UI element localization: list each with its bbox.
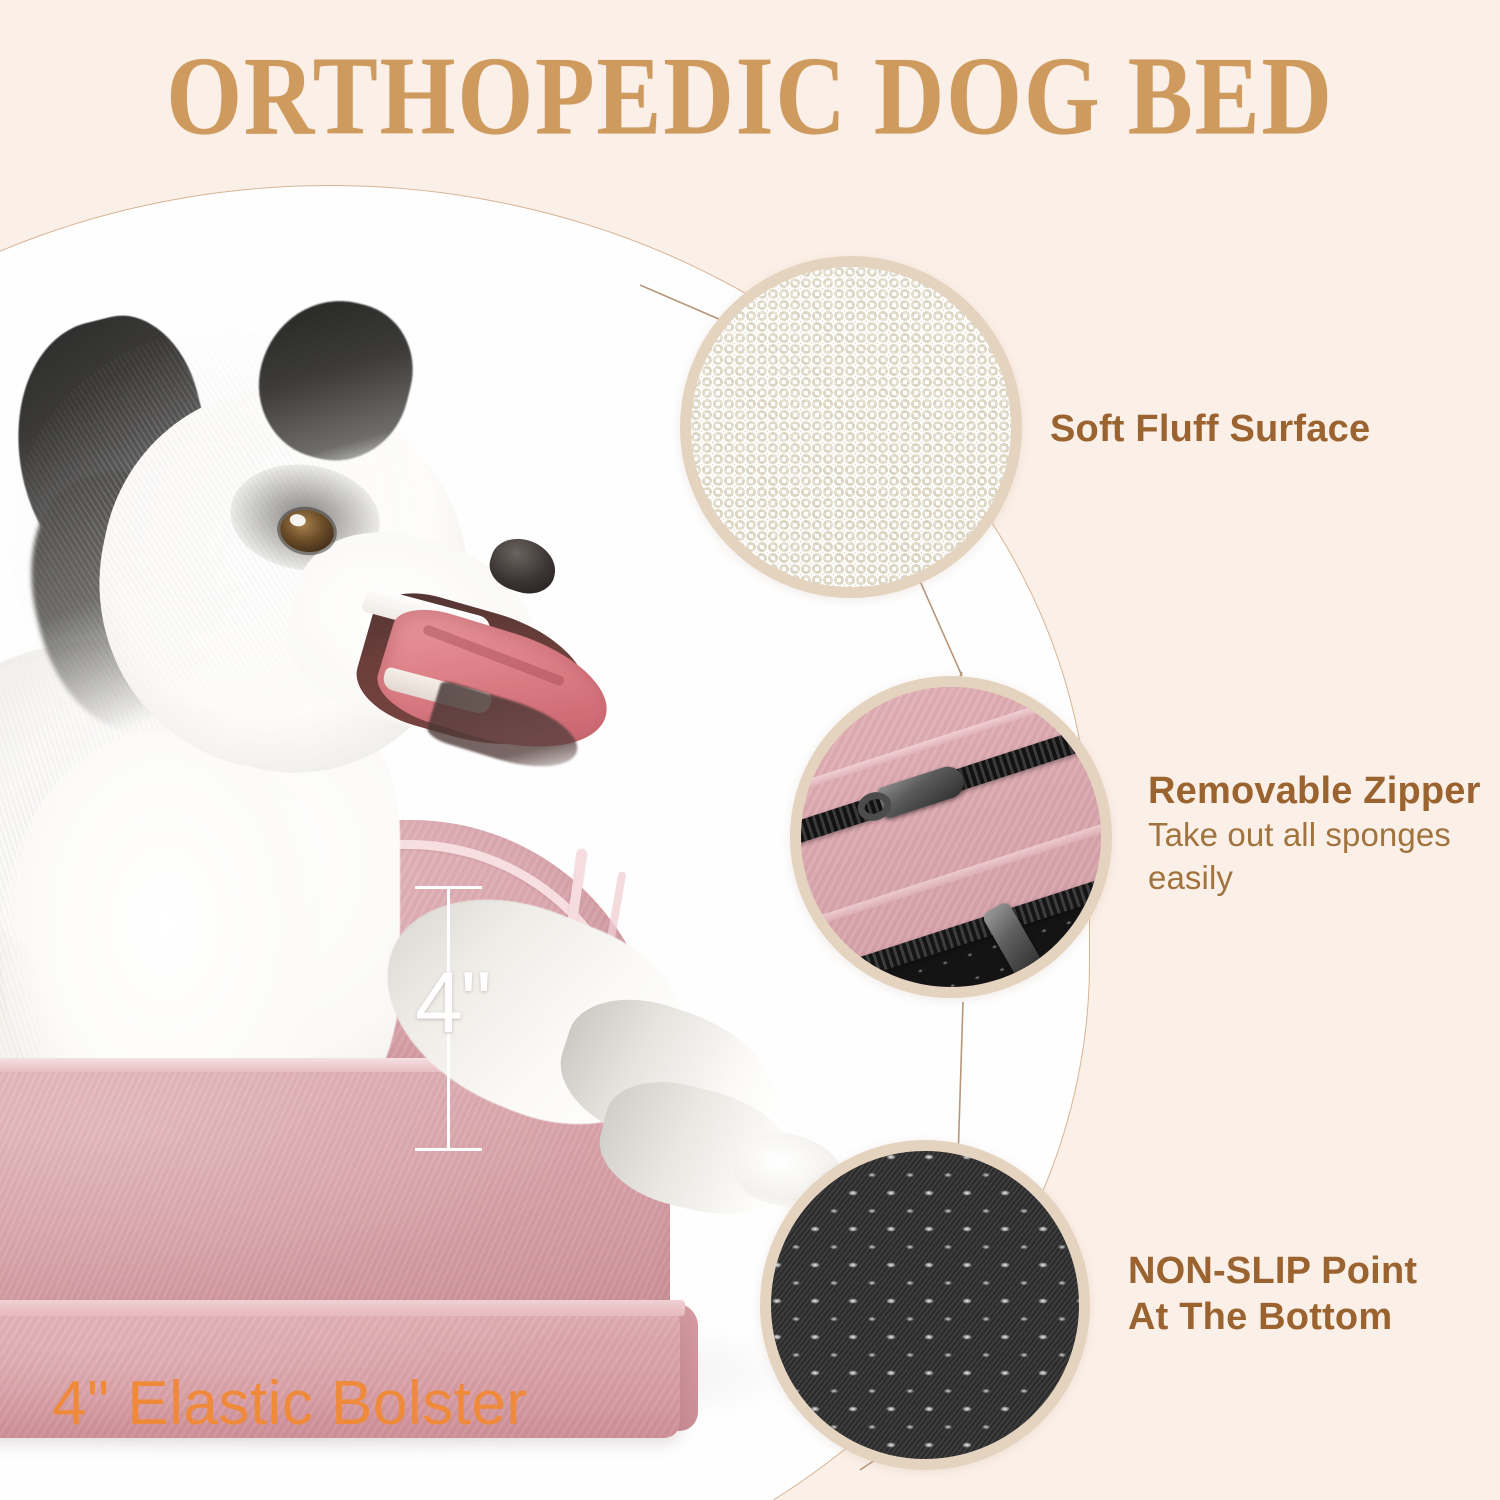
feature-heading: Soft Fluff Surface <box>1050 406 1370 452</box>
dimension-cap-bottom <box>415 1148 482 1151</box>
non-slip-dots-row-b <box>771 1151 1079 1459</box>
feature-label-soft-fluff-surface: Soft Fluff Surface <box>1050 406 1370 452</box>
feature-label-removable-zipper: Removable Zipper Take out all sponges ea… <box>1148 768 1481 899</box>
feature-heading-line1: NON-SLIP Point <box>1128 1248 1417 1294</box>
bolster-caption: 4" Elastic Bolster <box>52 1368 528 1439</box>
callout-soft-fluff-surface[interactable] <box>680 256 1022 598</box>
dimension-label: 4" <box>415 960 489 1046</box>
page-title: ORTHOPEDIC DOG BED <box>60 40 1440 152</box>
bed-base-top-edge <box>0 1300 685 1316</box>
infographic-canvas: ORTHOPEDIC DOG BED <box>0 0 1500 1500</box>
feature-label-non-slip-bottom: NON-SLIP Point At The Bottom <box>1128 1248 1417 1341</box>
feature-subtext: Take out all sponges easily <box>1148 814 1478 898</box>
callout-removable-zipper[interactable] <box>790 676 1112 998</box>
feature-heading-line2: At The Bottom <box>1128 1294 1417 1340</box>
callout-non-slip-bottom[interactable] <box>760 1140 1090 1470</box>
feature-heading: Removable Zipper <box>1148 768 1481 814</box>
